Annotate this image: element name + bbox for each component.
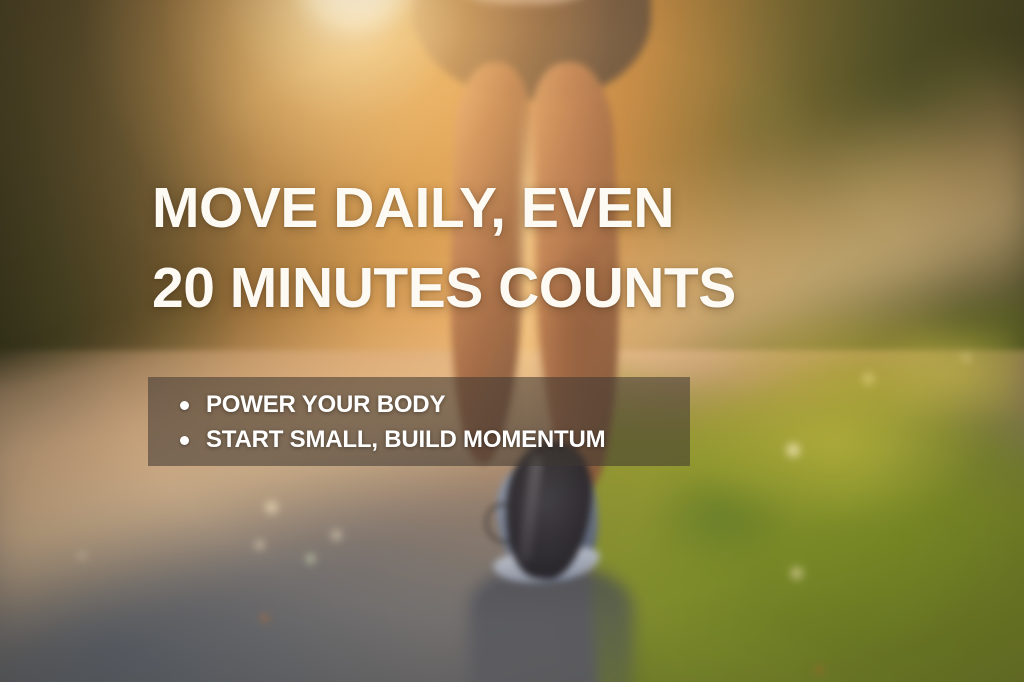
- bullet-dot-icon: [180, 401, 189, 410]
- list-item: START SMALL, BUILD MOMENTUM: [180, 424, 690, 456]
- bullet-list-panel: POWER YOUR BODY START SMALL, BUILD MOMEN…: [148, 377, 690, 466]
- bullet-dot-icon: [180, 436, 189, 445]
- fitness-motivation-banner: MOVE DAILY, EVEN 20 MINUTES COUNTS POWER…: [0, 0, 1024, 682]
- banner-content: MOVE DAILY, EVEN 20 MINUTES COUNTS POWER…: [0, 0, 1024, 682]
- list-item: POWER YOUR BODY: [180, 389, 690, 421]
- bullet-label: POWER YOUR BODY: [206, 391, 445, 419]
- headline-line-1: MOVE DAILY, EVEN: [152, 168, 736, 248]
- page-title: MOVE DAILY, EVEN 20 MINUTES COUNTS: [152, 168, 736, 328]
- bullet-label: START SMALL, BUILD MOMENTUM: [206, 426, 605, 454]
- headline-line-2: 20 MINUTES COUNTS: [152, 248, 736, 328]
